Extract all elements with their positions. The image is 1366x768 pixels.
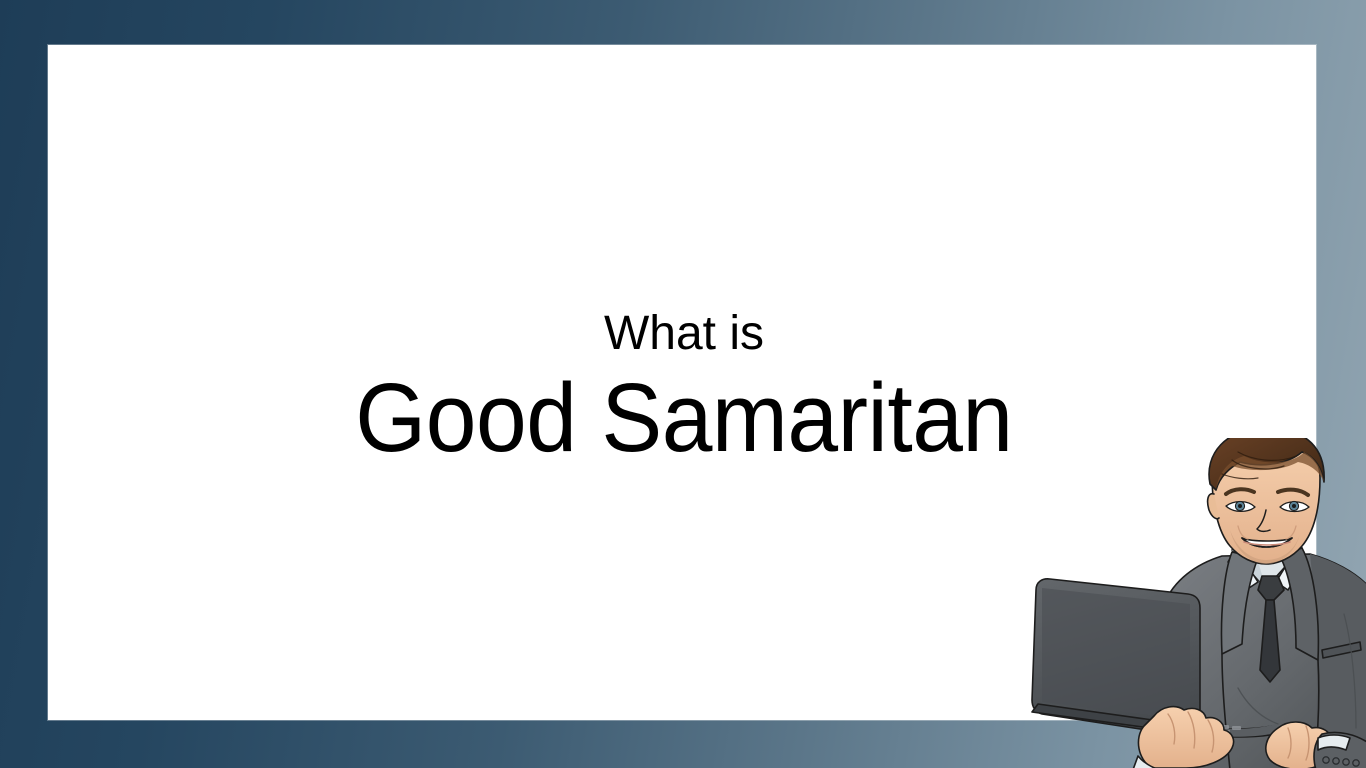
eyebrow-text: What is (52, 310, 1316, 358)
title-block: What is Good Samaritan (48, 310, 1316, 473)
page-title: Good Samaritan (90, 364, 1278, 473)
slide-content-card: What is Good Samaritan (48, 45, 1316, 720)
presentation-slide: What is Good Samaritan (0, 0, 1366, 768)
